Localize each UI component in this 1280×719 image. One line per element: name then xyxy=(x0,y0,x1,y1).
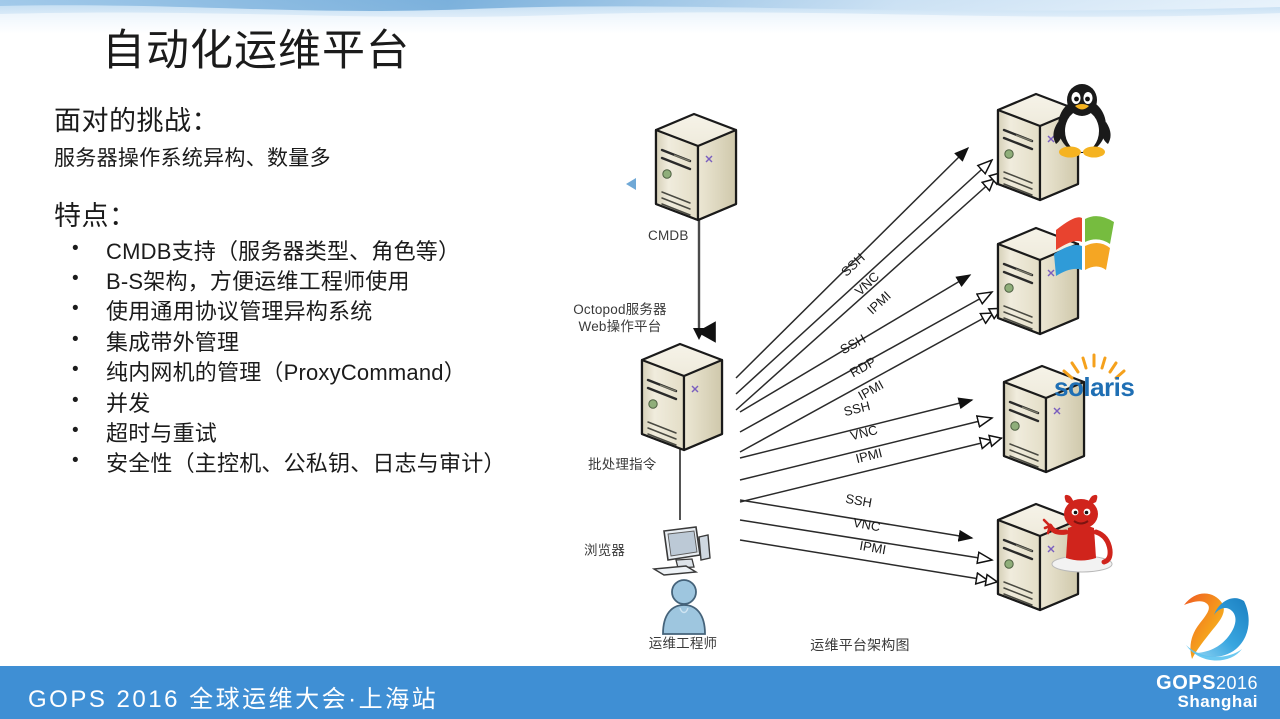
footer-logo-year: 2016 xyxy=(1216,673,1258,693)
protocol-labels-windows: SSH RDP IPMI xyxy=(837,331,886,403)
content-column: 自动化运维平台 面对的挑战： 服务器操作系统异构、数量多 特点： CMDB支持（… xyxy=(54,26,524,480)
solaris-logo-icon: solaris xyxy=(1054,355,1134,402)
footer-logo-city: Shanghai xyxy=(1156,693,1258,710)
diagram-caption: 运维平台架构图 xyxy=(740,635,980,655)
protocol-labels-freebsd: SSH VNC IPMI xyxy=(844,491,887,557)
server-octopod xyxy=(642,344,722,450)
slide-canvas: 自动化运维平台 面对的挑战： 服务器操作系统异构、数量多 特点： CMDB支持（… xyxy=(0,0,1280,719)
diagram-svg: SSH VNC IPMI SSH RDP IPMI xyxy=(540,60,1260,660)
protocol-label: IPMI xyxy=(858,538,887,557)
challenge-text: 服务器操作系统异构、数量多 xyxy=(54,142,524,172)
list-item: 并发 xyxy=(54,389,524,419)
list-item: CMDB支持（服务器类型、角色等） xyxy=(54,237,524,267)
list-item: 纯内网机的管理（ProxyCommand） xyxy=(54,358,524,388)
cmdb-pointer-icon xyxy=(626,178,636,190)
page-title: 自动化运维平台 xyxy=(102,26,524,77)
architecture-diagram: SSH VNC IPMI SSH RDP IPMI xyxy=(540,60,1260,660)
protocol-label: SSH xyxy=(838,250,868,279)
protocol-label: SSH xyxy=(842,398,872,419)
list-item: 安全性（主控机、公私钥、日志与审计） xyxy=(54,449,524,479)
footer-logo-brand: GOPS xyxy=(1156,672,1216,694)
list-item: B-S架构，方便运维工程师使用 xyxy=(54,267,524,297)
label-cmdb: CMDB xyxy=(648,228,689,243)
footer-event-text: GOPS 2016 全球运维大会·上海站 xyxy=(28,679,438,714)
server-cmdb xyxy=(656,114,736,220)
engineer-icon xyxy=(663,580,705,634)
protocol-label: SSH xyxy=(844,491,873,510)
browser-icon xyxy=(654,527,710,575)
protocol-labels-solaris: SSH VNC IPMI xyxy=(842,398,884,466)
protocol-label: VNC xyxy=(852,515,882,535)
list-item: 使用通用协议管理异构系统 xyxy=(54,297,524,327)
features-heading: 特点： xyxy=(54,194,524,233)
label-batch-command: 批处理指令 xyxy=(588,453,657,473)
footer-logo-brand-line: GOPS2016 xyxy=(1156,673,1258,693)
footer-logo: GOPS2016 Shanghai xyxy=(1156,673,1258,711)
protocol-label: SSH xyxy=(837,331,868,357)
protocol-labels-linux: SSH VNC IPMI xyxy=(838,250,894,317)
label-browser: 浏览器 xyxy=(584,539,625,559)
bsd-daemon-icon xyxy=(1044,495,1112,572)
gops-swirl-logo-icon xyxy=(1170,575,1262,667)
list-item: 集成带外管理 xyxy=(54,328,524,358)
list-item: 超时与重试 xyxy=(54,419,524,449)
protocol-label: VNC xyxy=(849,422,879,443)
footer-bar: GOPS 2016 全球运维大会·上海站 GOPS2016 Shanghai xyxy=(0,666,1280,719)
protocol-label: IPMI xyxy=(854,445,884,466)
challenge-heading: 面对的挑战： xyxy=(54,99,524,138)
solaris-wordmark: solaris xyxy=(1054,372,1134,402)
label-octopod-line2: Web操作平台 xyxy=(540,315,700,335)
label-engineer: 运维工程师 xyxy=(618,632,748,652)
features-list: CMDB支持（服务器类型、角色等） B-S架构，方便运维工程师使用 使用通用协议… xyxy=(54,237,524,480)
